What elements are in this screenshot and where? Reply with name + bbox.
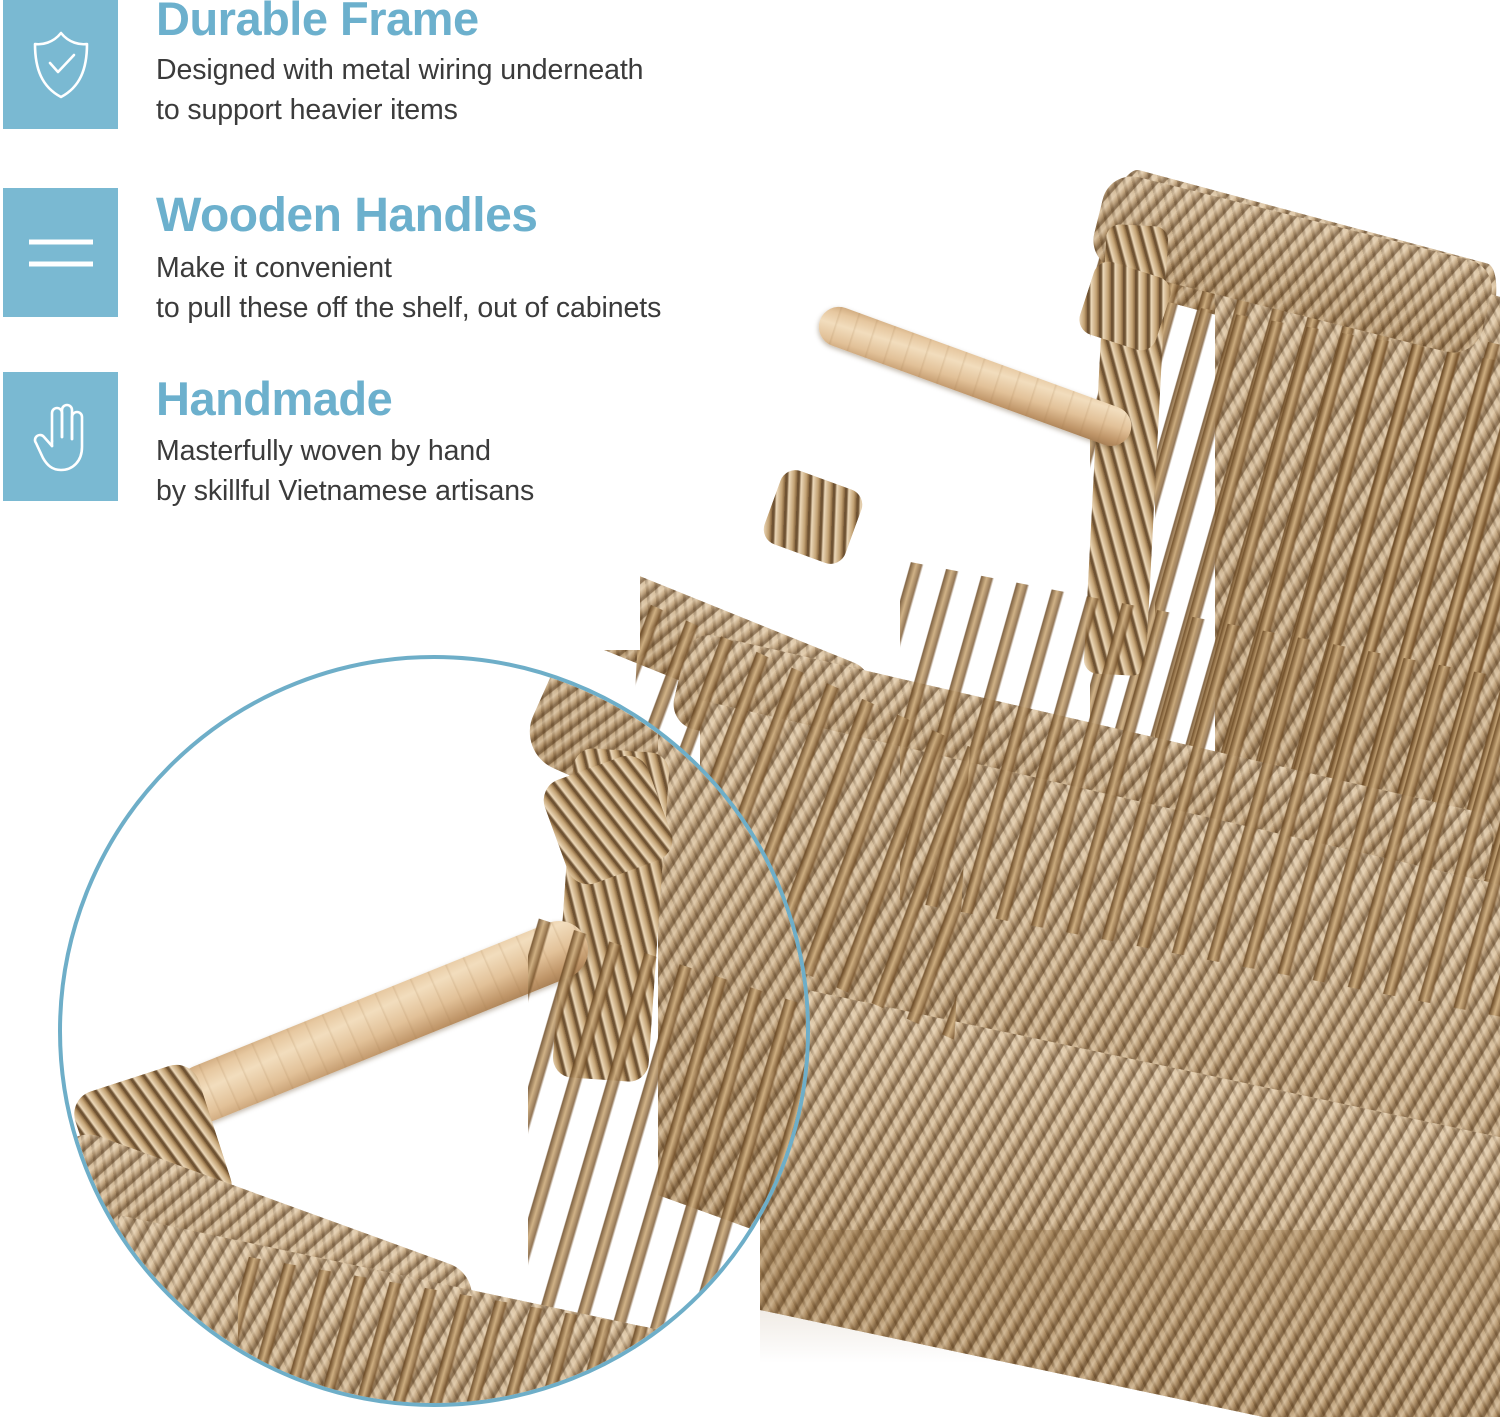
magnifier-content bbox=[58, 655, 810, 1407]
feature-text-wooden-handles: Wooden Handles Make it convenient to pul… bbox=[156, 190, 876, 329]
feature-title: Wooden Handles bbox=[156, 190, 876, 242]
infographic-canvas: Durable Frame Designed with metal wiring… bbox=[0, 0, 1500, 1417]
open-hand-icon bbox=[3, 372, 118, 501]
feature-title: Durable Frame bbox=[156, 0, 876, 45]
magnifier-callout bbox=[58, 655, 810, 1407]
feature-text-handmade: Handmade Masterfully woven by hand by sk… bbox=[156, 374, 876, 512]
feature-title: Handmade bbox=[156, 374, 876, 425]
feature-body: Designed with metal wiring underneath to… bbox=[156, 50, 876, 131]
feature-body: Masterfully woven by hand by skillful Vi… bbox=[156, 431, 876, 512]
feature-text-durable-frame: Durable Frame Designed with metal wiring… bbox=[156, 0, 876, 131]
shield-check-icon bbox=[3, 0, 118, 129]
basket-bottom-shadow bbox=[760, 1230, 1500, 1417]
feature-body: Make it convenient to pull these off the… bbox=[156, 248, 876, 329]
two-bars-handle-icon bbox=[3, 188, 118, 317]
